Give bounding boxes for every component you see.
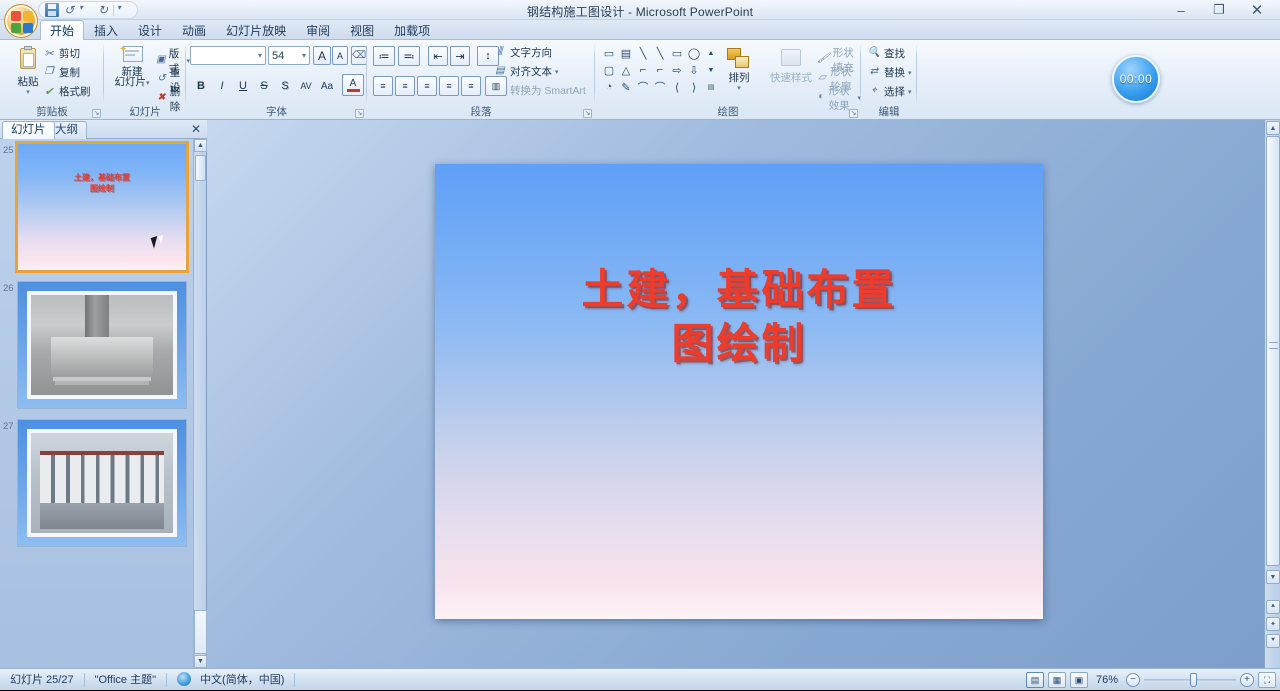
thumbnail-number: 27 — [3, 421, 14, 432]
group-paragraph: ≔ ≕ ⇤ ⇥ ↕ ⫼ 文字方向 ▤ 对齐文本 ▾ ▨ 转换为 SmartArt… — [367, 40, 595, 120]
arrange-button[interactable]: 排列 ▾ — [717, 46, 761, 92]
office-button[interactable] — [4, 4, 38, 38]
quick-styles-label: 快速样式 — [763, 73, 819, 84]
grow-font-icon: A — [318, 49, 326, 63]
thumbnail-preview: 土建，基础布置 图绘制 — [18, 144, 186, 270]
new-slide-icon: ✦ — [119, 44, 145, 66]
shrink-font-icon: A — [337, 51, 343, 61]
decrease-indent-button[interactable]: ⇤ — [428, 46, 448, 66]
ribbon-tab-strip: 开始 插入 设计 动画 幻灯片放映 审阅 视图 加载项 — [0, 20, 1280, 40]
foundation-photo — [27, 291, 177, 399]
shape-brace-right-icon[interactable]: ⟩ — [686, 79, 702, 95]
font-size-value: 54 — [272, 50, 284, 62]
align-text-dropdown-icon[interactable]: ▾ — [555, 68, 559, 76]
building-photo — [27, 429, 177, 537]
group-label-font: 字体 — [186, 104, 367, 119]
tab-design[interactable]: 设计 — [128, 20, 172, 40]
columns-icon: ▥ — [492, 81, 501, 92]
font-color-swatch — [347, 89, 360, 92]
shapes-gallery[interactable]: ▭ ▤ ╲ ╲ ▭ ◯ ▲ ▢ △ ⌐ ⌐ ⇨ ⇩ ▼ ◔ ✎ ⌒ ⌒ ⟨ ⟩ — [601, 45, 719, 95]
pane-scrollbar[interactable]: ▲ ▼ — [193, 139, 206, 668]
shape-brace-left-icon[interactable]: ⟨ — [669, 79, 685, 95]
main-vertical-scrollbar[interactable]: ▲ ▼ ⯅ ✦ ⯆ — [1264, 120, 1280, 668]
font-size-dropdown-icon[interactable]: ▾ — [302, 51, 306, 60]
thumbnail-number: 25 — [3, 145, 14, 156]
group-divider — [916, 44, 917, 104]
cut-button[interactable]: ✂ 剪切 — [42, 46, 80, 61]
group-label-editing: 编辑 — [861, 104, 917, 119]
tab-view[interactable]: 视图 — [340, 20, 384, 40]
strikethrough-button[interactable]: S — [254, 76, 274, 96]
window-title: 钢结构施工图设计 - Microsoft PowerPoint — [0, 3, 1280, 20]
shape-arc-icon[interactable]: ⌒ — [652, 79, 668, 95]
font-dialog-launcher[interactable]: ↘ — [355, 109, 364, 118]
group-font: ▾ 54 ▾ A A ⌫ B I U S S AV Aa A — [186, 40, 367, 120]
justify-button[interactable]: ≡ — [439, 76, 459, 96]
thumbnail-title-line2: 图绘制 — [18, 183, 186, 194]
underline-icon: U — [239, 80, 247, 92]
shrink-font-button[interactable]: A — [332, 46, 348, 65]
clear-formatting-button[interactable]: ⌫ — [351, 46, 367, 65]
timer-value: 00:00 — [1120, 72, 1153, 86]
slide-title-line2: 图绘制 — [475, 318, 1003, 372]
drawing-dialog-launcher[interactable]: ↘ — [849, 109, 858, 118]
shape-triangle-icon[interactable]: △ — [618, 62, 634, 78]
shape-effects-icon: ◐ — [817, 91, 826, 105]
text-direction-button[interactable]: ⫼ 文字方向 — [493, 45, 552, 60]
grow-font-button[interactable]: A — [313, 46, 331, 65]
status-bar: 幻灯片 25/27 "Office 主题" 中文(简体，中国) ▤ ▦ ▣ 76… — [0, 668, 1280, 690]
tab-addins[interactable]: 加载项 — [384, 20, 440, 40]
scroll-up-button[interactable]: ▲ — [1266, 121, 1280, 135]
align-right-icon: ≡ — [424, 81, 429, 91]
thumbnail-preview — [18, 282, 186, 408]
new-slide-dropdown-icon[interactable]: ▾ — [146, 80, 150, 87]
numbering-button[interactable]: ≕ — [398, 46, 420, 66]
paintbrush-icon: ✔ — [42, 85, 56, 99]
italic-button[interactable]: I — [212, 76, 232, 96]
arrange-label: 排列 — [717, 73, 761, 84]
thumbnail-title: 土建，基础布置 图绘制 — [18, 172, 186, 194]
clipboard-dialog-launcher[interactable]: ↘ — [92, 109, 101, 118]
change-case-icon: Aa — [321, 81, 333, 92]
increase-indent-button[interactable]: ⇥ — [450, 46, 470, 66]
text-shadow-icon: S — [281, 80, 288, 92]
powerpoint-window: 钢结构施工图设计 - Microsoft PowerPoint ↺ ▾ ↻ ▾ … — [0, 0, 1280, 690]
search-icon: 🔍 — [867, 47, 881, 61]
decrease-indent-icon: ⇤ — [433, 50, 442, 63]
tab-insert[interactable]: 插入 — [84, 20, 128, 40]
minimize-button[interactable]: – — [1162, 0, 1200, 20]
paste-icon — [13, 46, 43, 76]
find-label: 查找 — [884, 46, 905, 61]
group-editing: 🔍 查找 ⇄ 替换 ▾ ⌖ 选择 ▾ 编辑 — [861, 40, 917, 120]
bold-button[interactable]: B — [191, 76, 211, 96]
language-label: 中文(简体，中国) — [200, 674, 284, 686]
bullets-icon: ≔ — [379, 50, 390, 63]
find-button[interactable]: 🔍 查找 — [867, 46, 905, 61]
select-label: 选择 — [884, 84, 905, 99]
zoom-slider-handle[interactable] — [1190, 673, 1197, 687]
tab-slides-pane[interactable]: 幻灯片 — [2, 121, 55, 139]
scroll-down-button[interactable]: ▼ — [1266, 570, 1280, 584]
tab-slideshow[interactable]: 幻灯片放映 — [216, 20, 296, 40]
redo-icon[interactable]: ↻ — [96, 3, 110, 17]
pane-scroll-up-button[interactable]: ▲ — [194, 139, 207, 152]
status-bar-right: ▤ ▦ ▣ 76% − + ⛶ — [1026, 669, 1276, 691]
shape-rectangle-icon[interactable]: ▭ — [601, 45, 617, 61]
zoom-slider[interactable] — [1144, 673, 1236, 687]
align-center-button[interactable]: ≡ — [395, 76, 415, 96]
quick-styles-button[interactable]: 快速样式 — [763, 46, 819, 84]
copy-icon: ❐ — [42, 66, 56, 80]
replace-dropdown-icon[interactable]: ▾ — [908, 69, 912, 77]
previous-slide-button[interactable]: ⯅ — [1266, 600, 1280, 614]
pane-scroll-down-button[interactable]: ▼ — [194, 655, 207, 668]
quick-styles-icon — [777, 46, 805, 72]
font-name-dropdown-icon[interactable]: ▾ — [258, 51, 262, 60]
back-to-start-button[interactable]: ✦ — [1266, 617, 1280, 631]
customize-qat-icon[interactable]: ▾ — [117, 3, 131, 17]
close-pane-icon[interactable]: ✕ — [191, 122, 201, 136]
thumbnail-slide-25[interactable]: 土建，基础布置 图绘制 — [15, 141, 189, 273]
bullets-button[interactable]: ≔ — [373, 46, 395, 66]
undo-icon[interactable]: ↺ — [62, 3, 76, 17]
shape-arrow-down-icon[interactable]: ⇩ — [686, 62, 702, 78]
group-slides: ✦ 新建 幻灯片▾ ▣ 版式 ▾ ↺ 重设 ✖ 删除 幻灯片 — [104, 40, 186, 120]
align-left-button[interactable]: ≡ — [373, 76, 393, 96]
view-normal-button[interactable]: ▤ — [1026, 672, 1044, 688]
group-clipboard: 粘贴 ▾ ✂ 剪切 ❐ 复制 ✔ 格式刷 剪贴板 ↘ — [0, 40, 104, 120]
group-label-paragraph: 段落 — [367, 104, 595, 119]
slide-editing-area: 土建，基础布置 图绘制 ▲ ▼ ⯅ ✦ ⯆ — [207, 120, 1280, 668]
clear-formatting-icon: ⌫ — [352, 50, 366, 61]
align-text-label: 对齐文本 — [510, 64, 552, 79]
zoom-out-button[interactable]: − — [1126, 673, 1140, 687]
arrange-icon — [725, 46, 753, 72]
align-right-button[interactable]: ≡ — [417, 76, 437, 96]
shape-textbox-icon[interactable]: ▤ — [618, 45, 634, 61]
slide-thumbnail-pane: 幻灯片 大纲 ✕ 25 土建，基础布置 图绘制 26 — [0, 120, 207, 668]
group-label-clipboard: 剪贴板 — [0, 104, 104, 119]
status-divider — [294, 673, 295, 687]
slide-count-status[interactable]: 幻灯片 25/27 — [0, 669, 84, 691]
font-color-button[interactable]: A — [342, 74, 364, 96]
view-reading-button[interactable]: ▣ — [1070, 672, 1088, 688]
thumbnail-preview — [18, 420, 186, 546]
text-direction-icon: ⫼ — [493, 46, 507, 60]
tab-animations[interactable]: 动画 — [172, 20, 216, 40]
ribbon: 粘贴 ▾ ✂ 剪切 ❐ 复制 ✔ 格式刷 剪贴板 ↘ — [0, 40, 1280, 120]
strikethrough-icon: S — [260, 80, 267, 92]
shape-elbow-icon[interactable]: ⌐ — [635, 62, 651, 78]
thumbnail-list: 25 土建，基础布置 图绘制 26 — [0, 139, 194, 668]
cut-label: 剪切 — [59, 46, 80, 61]
shape-curve-icon[interactable]: ⌒ — [635, 79, 651, 95]
quick-access-toolbar[interactable]: ↺ ▾ ↻ ▾ — [38, 1, 138, 19]
scroll-grip — [1269, 342, 1278, 349]
qat-divider — [113, 5, 114, 16]
fit-to-window-button[interactable]: ⛶ — [1258, 672, 1276, 688]
character-spacing-icon: AV — [300, 81, 311, 91]
office-logo-icon — [11, 11, 33, 33]
thumbnail-title-line1: 土建，基础布置 — [18, 172, 186, 183]
pane-scroll-thumb[interactable] — [195, 155, 206, 181]
timer-widget[interactable]: 00:00 — [1112, 55, 1160, 103]
convert-smartart-label: 转换为 SmartArt — [510, 83, 586, 98]
font-size-input[interactable]: 54 ▾ — [268, 46, 310, 65]
tab-review[interactable]: 审阅 — [296, 20, 340, 40]
columns-button[interactable]: ▥ — [485, 76, 507, 96]
window-controls: – ❐ ✕ — [1162, 0, 1276, 20]
shape-rect2-icon[interactable]: ▭ — [669, 45, 685, 61]
save-icon[interactable] — [45, 3, 59, 17]
group-drawing: ▭ ▤ ╲ ╲ ▭ ◯ ▲ ▢ △ ⌐ ⌐ ⇨ ⇩ ▼ ◔ ✎ ⌒ ⌒ ⟨ ⟩ — [595, 40, 861, 120]
shape-arrow-right-icon[interactable]: ⇨ — [669, 62, 685, 78]
numbering-icon: ≕ — [404, 50, 415, 63]
shape-elbow2-icon[interactable]: ⌐ — [652, 62, 668, 78]
tab-home[interactable]: 开始 — [40, 20, 84, 40]
list-item[interactable]: 26 — [0, 281, 194, 411]
close-button[interactable]: ✕ — [1238, 0, 1276, 20]
next-slide-button[interactable]: ⯆ — [1266, 634, 1280, 648]
distributed-button[interactable]: ≡ — [461, 76, 481, 96]
restore-button[interactable]: ❐ — [1200, 0, 1238, 20]
language-icon — [177, 672, 191, 686]
undo-dropdown-icon[interactable]: ▾ — [79, 3, 93, 17]
arrange-dropdown-icon[interactable]: ▾ — [717, 84, 761, 92]
shape-pie-icon[interactable]: ◔ — [601, 79, 617, 95]
thumbnail-slide-27[interactable] — [17, 419, 187, 547]
scissors-icon: ✂ — [42, 47, 56, 61]
shape-freeform-icon[interactable]: ✎ — [618, 79, 634, 95]
italic-icon: I — [220, 80, 223, 92]
new-slide-label-line2: 幻灯片 — [114, 76, 146, 88]
scroll-thumb[interactable] — [1266, 136, 1280, 566]
select-button[interactable]: ⌖ 选择 ▾ — [867, 84, 912, 99]
replace-icon: ⇄ — [867, 66, 881, 80]
underline-button[interactable]: U — [233, 76, 253, 96]
copy-button[interactable]: ❐ 复制 — [42, 65, 80, 80]
theme-status[interactable]: "Office 主题" — [85, 669, 166, 691]
text-direction-label: 文字方向 — [510, 45, 552, 60]
slide-title-line1: 土建，基础布置 — [475, 264, 1003, 318]
justify-icon: ≡ — [446, 81, 451, 91]
change-case-button[interactable]: Aa — [317, 76, 337, 96]
list-item[interactable]: 27 — [0, 419, 194, 549]
view-slide-sorter-button[interactable]: ▦ — [1048, 672, 1066, 688]
select-dropdown-icon[interactable]: ▾ — [908, 88, 912, 96]
paragraph-dialog-launcher[interactable]: ↘ — [583, 109, 592, 118]
zoom-level-label[interactable]: 76% — [1092, 674, 1122, 686]
copy-label: 复制 — [59, 65, 80, 80]
line-spacing-icon: ↕ — [485, 50, 491, 62]
zoom-in-button[interactable]: + — [1240, 673, 1254, 687]
text-shadow-button[interactable]: S — [275, 76, 295, 96]
pane-scroll-lower-box[interactable] — [194, 610, 207, 654]
thumbnail-slide-26[interactable] — [17, 281, 187, 409]
bold-icon: B — [197, 80, 205, 92]
distributed-icon: ≡ — [468, 81, 473, 91]
align-center-icon: ≡ — [402, 81, 407, 91]
format-painter-button[interactable]: ✔ 格式刷 — [42, 84, 91, 99]
shape-oval-icon[interactable]: ◯ — [686, 45, 702, 61]
replace-label: 替换 — [884, 65, 905, 80]
current-slide[interactable]: 土建，基础布置 图绘制 — [435, 164, 1043, 619]
format-painter-label: 格式刷 — [59, 84, 91, 99]
replace-button[interactable]: ⇄ 替换 ▾ — [867, 65, 912, 80]
align-left-icon: ≡ — [380, 81, 385, 91]
increase-indent-icon: ⇥ — [455, 50, 464, 63]
font-name-input[interactable]: ▾ — [190, 46, 266, 65]
group-label-drawing: 绘图 — [595, 104, 861, 119]
ribbon-tabs: 开始 插入 设计 动画 幻灯片放映 审阅 视图 加载项 — [40, 20, 440, 40]
pane-tab-strip: 幻灯片 大纲 ✕ — [0, 120, 207, 139]
slide-title-textbox[interactable]: 土建，基础布置 图绘制 — [475, 264, 1003, 372]
language-status[interactable]: 中文(简体，中国) — [167, 669, 294, 691]
group-label-slides: 幻灯片 — [104, 104, 186, 119]
list-item[interactable]: 25 土建，基础布置 图绘制 — [0, 143, 194, 273]
new-slide-button[interactable]: ✦ 新建 幻灯片▾ — [108, 44, 156, 89]
shape-roundrect-icon[interactable]: ▢ — [601, 62, 617, 78]
thumbnail-number: 26 — [3, 283, 14, 294]
character-spacing-button[interactable]: AV — [296, 76, 316, 96]
select-icon: ⌖ — [867, 85, 881, 99]
title-bar: 钢结构施工图设计 - Microsoft PowerPoint ↺ ▾ ↻ ▾ … — [0, 0, 1280, 20]
shape-arrow-icon[interactable]: ╲ — [652, 45, 668, 61]
font-color-icon: A — [350, 79, 357, 89]
shape-line-icon[interactable]: ╲ — [635, 45, 651, 61]
